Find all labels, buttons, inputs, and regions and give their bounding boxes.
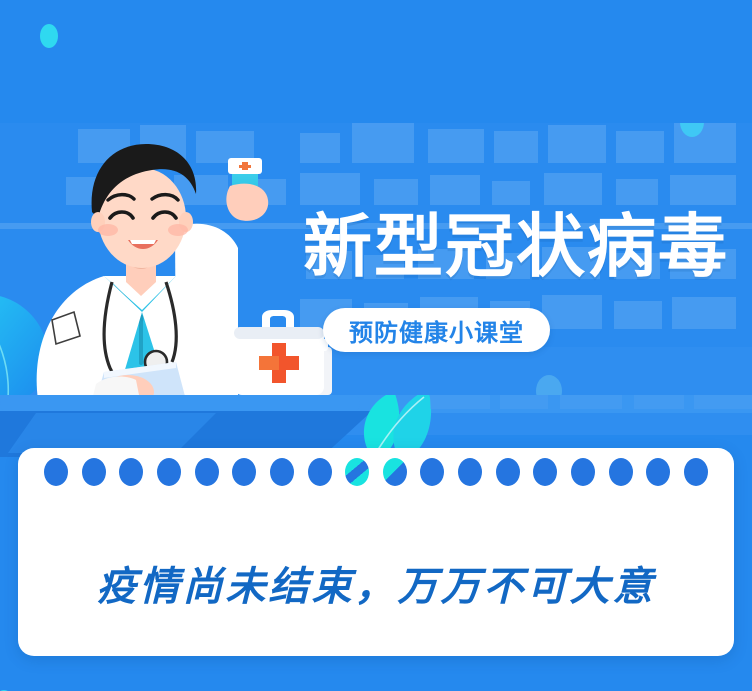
page-title: 新型冠状病毒 bbox=[303, 213, 729, 282]
dot-indicator bbox=[157, 458, 181, 486]
dot-indicator bbox=[571, 458, 595, 486]
subtitle-pill: 预防健康小课堂 bbox=[323, 308, 550, 352]
dot-indicator bbox=[420, 458, 444, 486]
card-headline: 疫情尚未结束，万万不可大意 bbox=[18, 554, 734, 612]
dot-indicator bbox=[533, 458, 557, 486]
subtitle-pill-label: 预防健康小课堂 bbox=[349, 313, 524, 348]
dot-row bbox=[18, 458, 734, 502]
dot-indicator bbox=[308, 458, 332, 486]
dot-indicator bbox=[345, 458, 369, 486]
dot-indicator bbox=[195, 458, 219, 486]
dot-indicator bbox=[609, 458, 633, 486]
message-card: 疫情尚未结束，万万不可大意 bbox=[18, 448, 734, 656]
dot-indicator bbox=[458, 458, 482, 486]
dot-indicator bbox=[82, 458, 106, 486]
dot-indicator bbox=[270, 458, 294, 486]
dot-indicator bbox=[232, 458, 256, 486]
dot-indicator bbox=[684, 458, 708, 486]
floating-dot-icon bbox=[40, 24, 58, 48]
dot-indicator bbox=[119, 458, 143, 486]
dot-indicator bbox=[44, 458, 68, 486]
dot-indicator bbox=[383, 458, 407, 486]
poster-root: 新型冠状病毒 预防健康小课堂 bbox=[0, 0, 752, 691]
dot-indicator bbox=[496, 458, 520, 486]
dot-indicator bbox=[646, 458, 670, 486]
medical-kit-icon bbox=[222, 305, 342, 400]
